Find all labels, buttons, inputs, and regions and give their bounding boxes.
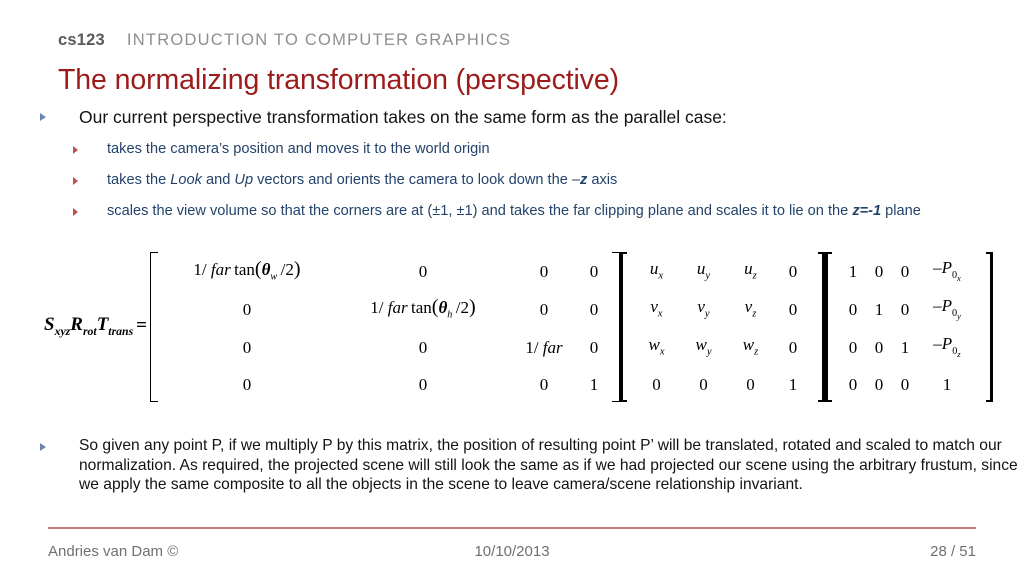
matrix-cell: 0 bbox=[789, 339, 798, 356]
list-item-label: takes the camera’s position and moves it… bbox=[107, 140, 490, 159]
matrix-cell: 0 bbox=[849, 301, 858, 318]
matrix-cell: 0 bbox=[652, 376, 661, 393]
matrix-cell: –P0y bbox=[933, 297, 961, 320]
triangle-bullet-icon bbox=[40, 113, 46, 121]
list-item-label: takes the Look and Up vectors and orient… bbox=[107, 171, 617, 190]
triangle-bullet-icon bbox=[73, 208, 78, 216]
bracket-left-icon bbox=[150, 252, 159, 402]
matrix-cell: 0 bbox=[901, 376, 910, 393]
course-code: cs123 bbox=[58, 31, 105, 50]
matrix-cell: 0 bbox=[419, 263, 428, 280]
matrix-cell: 0 bbox=[243, 339, 252, 356]
matrix-cell: 0 bbox=[243, 376, 252, 393]
matrix-cell: 0 bbox=[540, 263, 549, 280]
matrix-cell: wx bbox=[648, 336, 664, 358]
bracket-left-icon bbox=[825, 252, 834, 402]
list-item-label: scales the view volume so that the corne… bbox=[107, 202, 1002, 221]
matrix-cell: wz bbox=[743, 336, 758, 358]
matrix-cell: 0 bbox=[699, 376, 708, 393]
matrix-cell: uy bbox=[697, 260, 710, 282]
matrix-cell: –P0z bbox=[933, 335, 960, 358]
matrix-cell: vx bbox=[650, 298, 662, 320]
closing-paragraph: So given any point P, if we multiply P b… bbox=[40, 436, 1023, 495]
bracket-right-icon bbox=[611, 252, 620, 402]
matrix-cell: 1/ far bbox=[525, 339, 562, 356]
matrix-cell: 0 bbox=[590, 301, 599, 318]
matrix-cell: 1 bbox=[943, 376, 952, 393]
matrix-cell: 1/ far tan(θw /2) bbox=[193, 259, 300, 283]
matrix-cell: wy bbox=[695, 336, 711, 358]
matrix-cell: ux bbox=[650, 260, 663, 282]
matrix-cell: 0 bbox=[789, 263, 798, 280]
translation-matrix: 1 0 0 –P0x 0 1 0 –P0y 0 0 1 –P0z 0 0 0 1 bbox=[825, 252, 993, 402]
triangle-bullet-icon bbox=[73, 177, 78, 185]
slide-header: cs123 INTRODUCTION TO COMPUTER GRAPHICS bbox=[58, 31, 511, 50]
list-item: scales the view volume so that the corne… bbox=[73, 202, 1002, 221]
matrix-cell: 0 bbox=[419, 376, 428, 393]
page-title: The normalizing transformation (perspect… bbox=[58, 64, 619, 97]
closing-paragraph-label: So given any point P, if we multiply P b… bbox=[79, 436, 1023, 495]
matrix-cell: 0 bbox=[746, 376, 755, 393]
bullet-main-label: Our current perspective transformation t… bbox=[79, 106, 727, 128]
matrix-cell: 0 bbox=[849, 339, 858, 356]
bracket-right-icon bbox=[816, 252, 825, 402]
equation-left-hand-side: SxyzRrotTtrans bbox=[44, 314, 135, 341]
bullet-main: Our current perspective transformation t… bbox=[40, 106, 727, 128]
list-item: takes the camera’s position and moves it… bbox=[73, 140, 490, 159]
course-name: INTRODUCTION TO COMPUTER GRAPHICS bbox=[127, 31, 511, 50]
bracket-left-icon bbox=[620, 252, 629, 402]
matrix-cell: vy bbox=[697, 298, 709, 320]
matrix-cell: 0 bbox=[789, 301, 798, 318]
triangle-bullet-icon bbox=[73, 146, 78, 154]
matrix-cell: 1 bbox=[849, 263, 858, 280]
matrix-cell: 1/ far tan(θh /2) bbox=[370, 297, 475, 321]
matrix-cell: 0 bbox=[540, 301, 549, 318]
matrix-cell: 1 bbox=[901, 339, 910, 356]
matrix-cell: vz bbox=[745, 298, 757, 320]
matrix-cell: 0 bbox=[849, 376, 858, 393]
matrix-cell: 0 bbox=[419, 339, 428, 356]
matrix-equation: SxyzRrotTtrans = 1/ far tan(θw /2) 0 0 0… bbox=[44, 252, 993, 402]
matrix-cell: 0 bbox=[875, 376, 884, 393]
footer-author: Andries van Dam © bbox=[48, 543, 178, 560]
matrix-cell: 0 bbox=[540, 376, 549, 393]
matrix-cell: 1 bbox=[875, 301, 884, 318]
matrix-cell: 0 bbox=[875, 339, 884, 356]
matrix-cell: uz bbox=[744, 260, 757, 282]
slide-canvas: cs123 INTRODUCTION TO COMPUTER GRAPHICS … bbox=[0, 0, 1024, 576]
matrix-cell: 0 bbox=[243, 301, 252, 318]
matrix-cell: 0 bbox=[590, 339, 599, 356]
rotation-matrix: ux uy uz 0 vx vy vz 0 wx wy wz 0 0 0 0 1 bbox=[620, 252, 825, 402]
footer-date: 10/10/2013 bbox=[474, 543, 549, 560]
scale-matrix: 1/ far tan(θw /2) 0 0 0 0 1/ far tan(θh … bbox=[150, 252, 620, 402]
bracket-right-icon bbox=[984, 252, 993, 402]
matrix-cell: 0 bbox=[901, 301, 910, 318]
equals-sign: = bbox=[135, 315, 150, 339]
matrix-cell: 1 bbox=[789, 376, 798, 393]
matrix-cell: 0 bbox=[875, 263, 884, 280]
matrix-cell: 1 bbox=[590, 376, 599, 393]
matrix-cell: 0 bbox=[901, 263, 910, 280]
list-item: takes the Look and Up vectors and orient… bbox=[73, 171, 617, 190]
footer-page-number: 28 / 51 bbox=[930, 543, 976, 560]
matrix-cell: –P0x bbox=[933, 259, 961, 282]
triangle-bullet-icon bbox=[40, 443, 46, 451]
slide-footer: Andries van Dam © 10/10/2013 28 / 51 bbox=[48, 543, 976, 560]
matrix-cell: 0 bbox=[590, 263, 599, 280]
footer-divider bbox=[48, 527, 976, 529]
